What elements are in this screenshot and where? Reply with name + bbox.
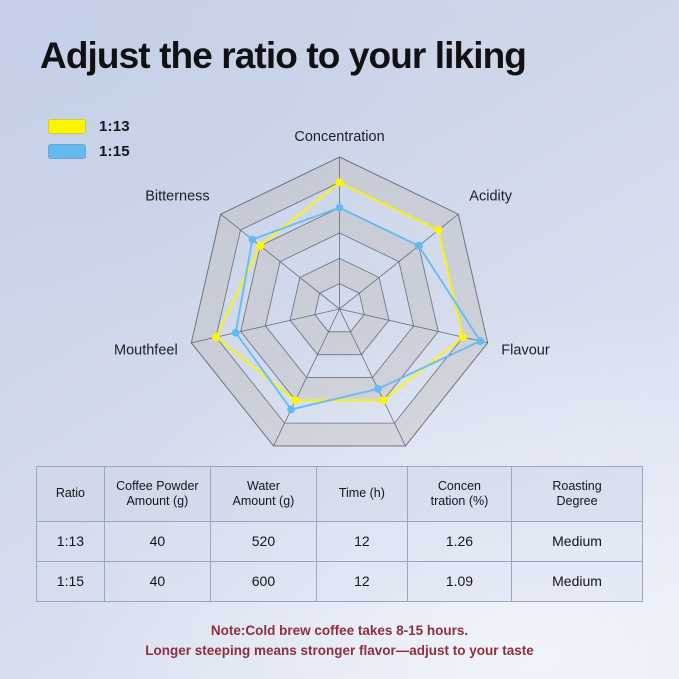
cell-coffee-powder-amount: 40 xyxy=(104,562,210,602)
radar-axis-label-bitterness: Bitterness xyxy=(145,189,209,205)
col-header-concentration: Concen tration (%) xyxy=(407,467,511,522)
radar-axis-label-flavour: Flavour xyxy=(501,343,550,359)
cell-time: 12 xyxy=(316,562,407,602)
poster-root: Adjust the ratio to your liking 1:13 1:1… xyxy=(0,0,679,679)
footer-note-line-2: Longer steeping means stronger flavor—ad… xyxy=(0,641,679,661)
col-header-roasting-degree: Roasting Degree xyxy=(512,467,643,522)
radar-point-1-13-bitterness xyxy=(257,242,264,249)
cell-water-amount: 600 xyxy=(210,562,316,602)
radar-point-1-15-sweetness xyxy=(374,385,381,392)
col-header-concentration-l1: Concen xyxy=(438,479,481,493)
radar-point-1-15-flavour xyxy=(477,338,484,345)
footer-note: Note:Cold brew coffee takes 8-15 hours. … xyxy=(0,621,679,660)
col-header-water-amount-l1: Water xyxy=(247,479,280,493)
col-header-coffee-powder-amount-l1: Coffee Powder xyxy=(116,479,198,493)
col-header-roasting-degree-l2: Degree xyxy=(557,494,598,508)
cell-ratio: 1:13 xyxy=(37,522,105,562)
col-header-ratio-l1: Ratio xyxy=(56,486,85,500)
col-header-concentration-l2: tration (%) xyxy=(431,494,489,508)
radar-point-1-13-clarity xyxy=(292,397,299,404)
radar-point-1-13-concentration xyxy=(336,179,343,186)
col-header-coffee-powder-amount: Coffee Powder Amount (g) xyxy=(104,467,210,522)
radar-chart: ConcentrationAcidityFlavourSweetnessClar… xyxy=(0,118,679,463)
radar-point-1-15-mouthfeel xyxy=(232,329,239,336)
cell-coffee-powder-amount: 40 xyxy=(104,522,210,562)
col-header-time-l1: Time (h) xyxy=(339,486,385,500)
col-header-water-amount-l2: Amount (g) xyxy=(233,494,295,508)
radar-point-1-15-acidity xyxy=(415,242,422,249)
table-row: 1:13 40 520 12 1.26 Medium xyxy=(37,522,643,562)
table-row: 1:15 40 600 12 1.09 Medium xyxy=(37,562,643,602)
col-header-roasting-degree-l1: Roasting xyxy=(552,479,601,493)
table-header-row: Ratio Coffee Powder Amount (g) Water Amo… xyxy=(37,467,643,522)
cell-time: 12 xyxy=(316,522,407,562)
col-header-water-amount: Water Amount (g) xyxy=(210,467,316,522)
radar-axis-label-concentration: Concentration xyxy=(294,129,384,145)
radar-point-1-13-acidity xyxy=(435,226,442,233)
radar-point-1-13-sweetness xyxy=(380,397,387,404)
cell-water-amount: 520 xyxy=(210,522,316,562)
col-header-ratio: Ratio xyxy=(37,467,105,522)
brew-spec-table: Ratio Coffee Powder Amount (g) Water Amo… xyxy=(36,466,643,602)
radar-point-1-15-bitterness xyxy=(249,236,256,243)
radar-point-1-15-concentration xyxy=(336,204,343,211)
radar-point-1-13-mouthfeel xyxy=(212,334,219,341)
radar-chart-svg: ConcentrationAcidityFlavourSweetnessClar… xyxy=(0,118,679,463)
page-title: Adjust the ratio to your liking xyxy=(40,35,526,77)
cell-ratio: 1:15 xyxy=(37,562,105,602)
cell-roasting-degree: Medium xyxy=(512,522,643,562)
radar-axis-label-acidity: Acidity xyxy=(469,189,512,205)
radar-axis-label-mouthfeel: Mouthfeel xyxy=(114,343,178,359)
footer-note-line-1: Note:Cold brew coffee takes 8-15 hours. xyxy=(0,621,679,641)
col-header-time: Time (h) xyxy=(316,467,407,522)
radar-point-1-15-clarity xyxy=(288,406,295,413)
cell-concentration: 1.26 xyxy=(407,522,511,562)
col-header-coffee-powder-amount-l2: Amount (g) xyxy=(126,494,188,508)
cell-roasting-degree: Medium xyxy=(512,562,643,602)
radar-point-1-13-flavour xyxy=(459,334,466,341)
cell-concentration: 1.09 xyxy=(407,562,511,602)
